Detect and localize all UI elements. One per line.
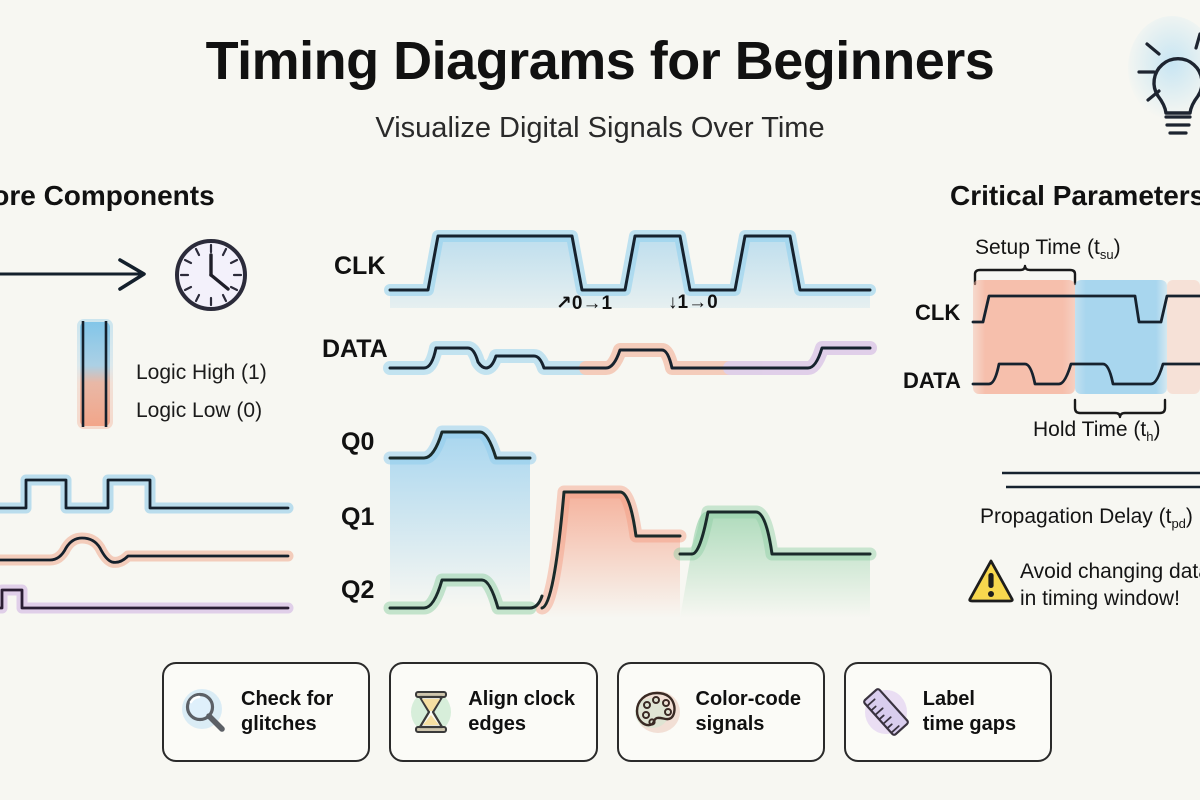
warning-line-1: Avoid changing data — [1020, 558, 1200, 585]
signal-label-q1: Q1 — [341, 503, 374, 532]
signal-label-q0: Q0 — [341, 428, 374, 457]
warning-triangle-icon — [968, 558, 1014, 604]
tip-card-check-for-glitches[interactable]: Check for glitches — [162, 662, 370, 762]
tip-line-1: Color-code — [696, 687, 802, 712]
right-signal-label-data: DATA — [903, 368, 961, 394]
setup-time-paren: ) — [1114, 236, 1121, 259]
setup-time-text: Setup Time (t — [975, 236, 1100, 259]
mini-waveform-salmon-bump — [0, 528, 288, 574]
magnifier-icon — [178, 686, 230, 738]
propagation-delay-text: Propagation Delay (t — [980, 505, 1171, 528]
tip-line-2: edges — [468, 712, 575, 737]
right-arrow-icon — [0, 252, 170, 296]
falling-edge-note: ↓1→0 — [668, 292, 718, 314]
signal-label-clk: CLK — [334, 252, 385, 281]
tip-label-check-for-glitches: Check for glitches — [241, 687, 333, 737]
page-subtitle: Visualize Digital Signals Over Time — [0, 110, 1200, 146]
waveform-clk — [390, 218, 870, 308]
tip-label-label-time-gaps: Label time gaps — [923, 687, 1016, 737]
logic-level-gradient-bar — [74, 318, 122, 430]
tip-card-color-code-signals[interactable]: Color-code signals — [617, 662, 825, 762]
tip-line-2: glitches — [241, 712, 333, 737]
signal-label-data: DATA — [322, 335, 388, 364]
hourglass-icon — [405, 686, 457, 738]
legend-logic-low-label: Logic Low (0) — [136, 398, 262, 424]
hold-time-brace — [1072, 398, 1172, 418]
warning-message: Avoid changing data in timing window! — [1020, 558, 1200, 612]
waveform-q0 — [390, 408, 870, 618]
tip-label-align-clock-edges: Align clock edges — [468, 687, 575, 737]
warning-line-2: in timing window! — [1020, 585, 1200, 612]
analog-clock-icon — [172, 236, 250, 314]
setup-time-label: Setup Time (tsu) — [975, 236, 1121, 262]
legend-logic-high-label: Logic High (1) — [136, 360, 267, 386]
tip-line-1: Label — [923, 687, 1016, 712]
left-column-heading: Core Components — [0, 180, 215, 212]
falling-edge-arrow-icon: ↓ — [668, 292, 678, 313]
mini-waveform-purple-spike — [0, 578, 288, 620]
hold-time-label: Hold Time (th) — [1033, 418, 1160, 444]
right-column-heading: Critical Parameters — [950, 180, 1200, 212]
signal-label-q2: Q2 — [341, 576, 374, 605]
palette-icon — [633, 686, 685, 738]
hold-time-paren: ) — [1153, 418, 1160, 441]
mini-waveform-blue-pulse-train — [0, 468, 288, 520]
tip-card-label-time-gaps[interactable]: Label time gaps — [844, 662, 1052, 762]
lightbulb-icon — [1128, 8, 1200, 136]
page-title: Timing Diagrams for Beginners — [0, 30, 1200, 92]
right-signal-label-clk: CLK — [915, 300, 960, 326]
propagation-delay-label: Propagation Delay (tpd) — [980, 505, 1193, 531]
rising-edge-arrow-icon: ↗ — [556, 293, 572, 314]
ruler-icon — [860, 686, 912, 738]
rising-edge-text: 0→1 — [572, 293, 612, 314]
propagation-delay-line — [958, 462, 1200, 498]
tip-label-color-code-signals: Color-code signals — [696, 687, 802, 737]
tip-line-2: signals — [696, 712, 802, 737]
propagation-delay-subscript: pd — [1171, 516, 1185, 531]
right-timing-diagram — [955, 278, 1200, 402]
propagation-delay-paren: ) — [1186, 505, 1193, 528]
waveform-data — [390, 320, 870, 382]
tip-line-1: Check for — [241, 687, 333, 712]
setup-time-subscript: su — [1100, 247, 1114, 262]
tip-card-align-clock-edges[interactable]: Align clock edges — [389, 662, 597, 762]
tips-row: Check for glitches Align clock edges — [162, 662, 1052, 762]
hold-time-text: Hold Time (t — [1033, 418, 1146, 441]
tip-line-1: Align clock — [468, 687, 575, 712]
falling-edge-text: 1→0 — [678, 292, 718, 313]
infographic-canvas: Timing Diagrams for Beginners Visualize … — [0, 0, 1200, 800]
tip-line-2: time gaps — [923, 712, 1016, 737]
rising-edge-note: ↗0→1 — [556, 292, 612, 315]
